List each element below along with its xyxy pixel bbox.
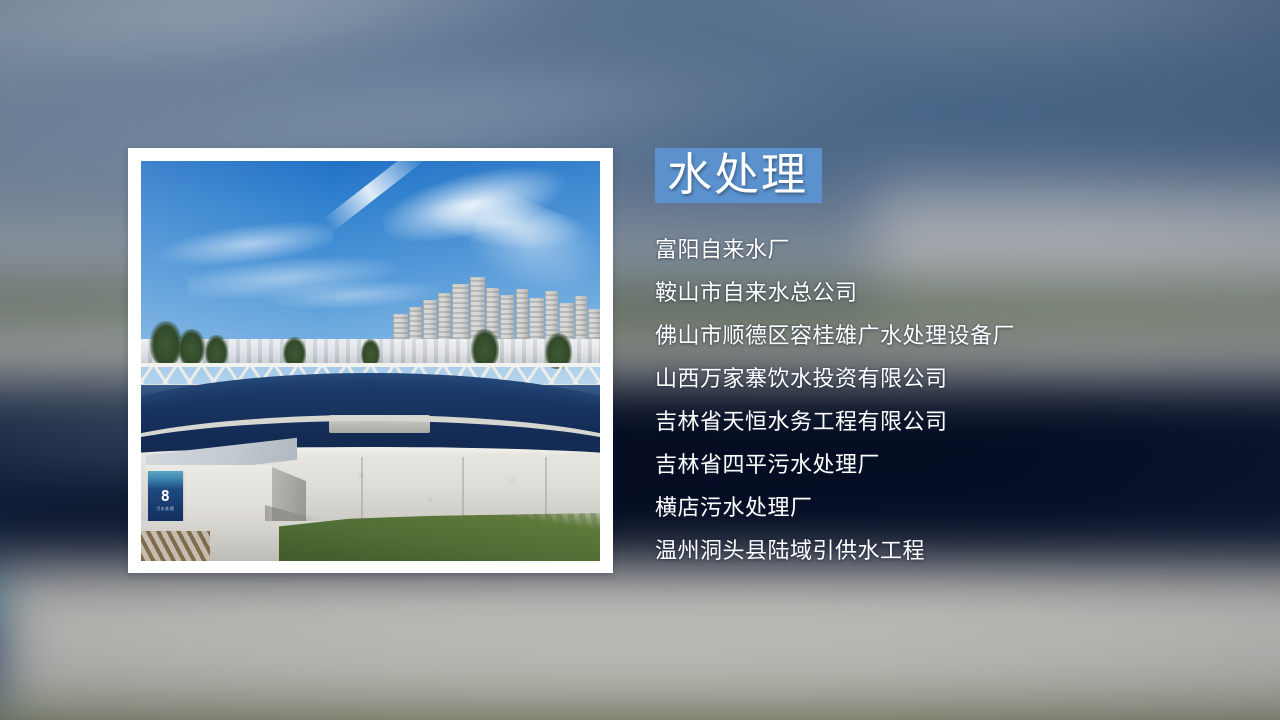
customer-list: 富阳自来水厂 鞍山市自来水总公司 佛山市顺德区容桂雄广水处理设备厂 山西万家寨饮…	[655, 239, 1255, 562]
photo-wall-joint	[361, 457, 363, 529]
photo-card: 8 污水处理	[128, 148, 613, 573]
photo-drain-grate	[141, 531, 210, 561]
photo-tree	[178, 329, 206, 365]
slide-root: 8 污水处理 水处理 富阳自来水厂 鞍山市自来水总公司 佛山市顺德区容桂雄广水处…	[0, 0, 1280, 720]
text-panel: 水处理 富阳自来水厂 鞍山市自来水总公司 佛山市顺德区容桂雄广水处理设备厂 山西…	[655, 148, 1255, 583]
list-item[interactable]: 山西万家寨饮水投资有限公司	[655, 368, 1255, 390]
list-item[interactable]: 富阳自来水厂	[655, 239, 1255, 261]
photo-tree	[471, 329, 499, 367]
page-title: 水处理	[667, 152, 808, 197]
list-item[interactable]: 佛山市顺德区容桂雄广水处理设备厂	[655, 325, 1255, 347]
photo-sign-sublabel: 污水处理	[156, 506, 174, 512]
photo-number-sign: 8 污水处理	[148, 471, 183, 525]
list-item[interactable]: 吉林省四平污水处理厂	[655, 454, 1255, 476]
photo-image: 8 污水处理	[141, 161, 600, 561]
photo-sign-number: 8	[161, 489, 170, 504]
list-item[interactable]: 吉林省天恒水务工程有限公司	[655, 411, 1255, 433]
list-item[interactable]: 横店污水处理厂	[655, 497, 1255, 519]
title-highlight-box: 水处理	[655, 148, 822, 203]
list-item[interactable]: 鞍山市自来水总公司	[655, 282, 1255, 304]
list-item[interactable]: 温州洞头县陆域引供水工程	[655, 540, 1255, 562]
